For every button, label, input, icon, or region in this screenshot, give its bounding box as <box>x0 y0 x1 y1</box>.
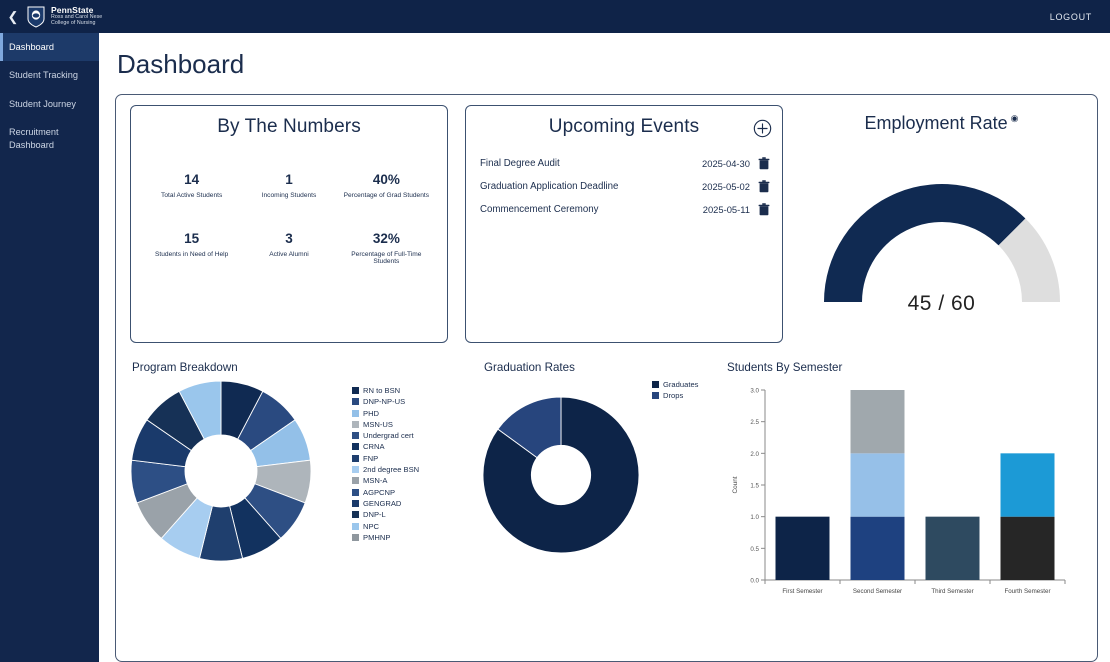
stat-label: Active Alumni <box>240 251 337 258</box>
legend-swatch <box>352 534 359 541</box>
legend-swatch <box>352 387 359 394</box>
legend-swatch <box>352 410 359 417</box>
legend-item[interactable]: 2nd degree BSN <box>352 465 419 474</box>
legend-swatch <box>352 511 359 518</box>
svg-text:Second Semester: Second Semester <box>853 588 902 595</box>
legend-label: CRNA <box>363 442 385 451</box>
legend-item[interactable]: RN to BSN <box>352 386 419 395</box>
event-row: Commencement Ceremony 2025-05-11 <box>478 198 770 221</box>
info-icon[interactable]: ◉ <box>1011 114 1019 123</box>
sidebar-item-label: Dashboard <box>9 42 54 52</box>
legend-label: DNP-L <box>363 510 386 519</box>
event-row: Graduation Application Deadline 2025-05-… <box>478 175 770 198</box>
svg-text:1.0: 1.0 <box>750 514 759 521</box>
stat-value: 1 <box>240 172 337 187</box>
sidebar-item-label: Student Tracking <box>9 70 78 80</box>
plus-circle-icon[interactable] <box>753 119 772 138</box>
program-breakdown-donut <box>130 380 312 562</box>
stat-students-in-need-of-help: 15 Students in Need of Help <box>143 231 240 265</box>
legend-item[interactable]: Graduates <box>652 380 698 389</box>
upcoming-events-header: Upcoming Events <box>478 116 770 138</box>
graduation-rates-legend: GraduatesDrops <box>652 380 698 400</box>
students-by-semester-body: 0.00.51.01.52.02.53.0CountFirst Semester… <box>725 380 1083 653</box>
legend-item[interactable]: Undergrad cert <box>352 431 419 440</box>
legend-swatch <box>652 381 659 388</box>
employment-rate-title-row: Employment Rate ◉ <box>800 113 1083 134</box>
stat-label: Incoming Students <box>240 192 337 199</box>
stacked-bar-chart: 0.00.51.01.52.02.53.0CountFirst Semester… <box>725 380 1073 618</box>
legend-label: PHD <box>363 409 379 418</box>
event-date: 2025-04-30 <box>702 158 750 169</box>
employment-rate-title: Employment Rate <box>865 113 1008 134</box>
sidebar: Dashboard Student Tracking Student Journ… <box>0 33 99 662</box>
legend-item[interactable]: MSN-A <box>352 476 419 485</box>
sidebar-item-recruitment-dashboard[interactable]: Recruitment Dashboard <box>0 118 99 159</box>
students-by-semester-title: Students By Semester <box>725 361 1083 374</box>
employment-rate-value: 45 / 60 <box>800 292 1083 316</box>
program-breakdown-chart: Program Breakdown RN to BSNDNP-NP-USPHDM… <box>130 361 482 653</box>
sidebar-item-student-journey[interactable]: Student Journey <box>0 90 99 118</box>
legend-item[interactable]: PMHNP <box>352 533 419 542</box>
legend-label: MSN-US <box>363 420 393 429</box>
charts-row: Program Breakdown RN to BSNDNP-NP-USPHDM… <box>130 361 1083 653</box>
stat-label: Total Active Students <box>143 192 240 199</box>
svg-text:1.5: 1.5 <box>750 483 759 490</box>
program-breakdown-body: RN to BSNDNP-NP-USPHDMSN-USUndergrad cer… <box>130 380 482 653</box>
graduation-rates-donut <box>482 396 640 554</box>
legend-swatch <box>352 443 359 450</box>
stat-value: 3 <box>240 231 337 246</box>
graduation-rates-title: Graduation Rates <box>482 361 725 374</box>
legend-item[interactable]: NPC <box>352 522 419 531</box>
widgets-row: By The Numbers 14 Total Active Students … <box>130 105 1083 343</box>
page-title: Dashboard <box>117 49 1098 80</box>
sidebar-item-label: Student Journey <box>9 99 76 109</box>
back-button[interactable]: ❮ <box>0 0 26 33</box>
legend-label: MSN-A <box>363 476 387 485</box>
trash-icon[interactable] <box>758 157 770 170</box>
legend-swatch <box>352 523 359 530</box>
event-name: Final Degree Audit <box>480 158 694 169</box>
students-by-semester-chart: Students By Semester 0.00.51.01.52.02.53… <box>725 361 1083 653</box>
legend-item[interactable]: CRNA <box>352 442 419 451</box>
brand-subline-2: College of Nursing <box>51 21 102 27</box>
svg-text:0.5: 0.5 <box>750 546 759 553</box>
stat-incoming-students: 1 Incoming Students <box>240 172 337 199</box>
legend-swatch <box>352 421 359 428</box>
svg-text:Third Semester: Third Semester <box>931 588 973 595</box>
legend-item[interactable]: Drops <box>652 391 698 400</box>
stat-value: 32% <box>338 231 435 246</box>
legend-label: AGPCNP <box>363 488 395 497</box>
legend-item[interactable]: DNP-L <box>352 510 419 519</box>
program-breakdown-legend: RN to BSNDNP-NP-USPHDMSN-USUndergrad cer… <box>352 386 419 542</box>
events-list: Final Degree Audit 2025-04-30 Graduation… <box>478 152 770 221</box>
event-row: Final Degree Audit 2025-04-30 <box>478 152 770 175</box>
legend-item[interactable]: FNP <box>352 454 419 463</box>
body-region: Dashboard Student Tracking Student Journ… <box>0 33 1110 662</box>
stats-grid: 14 Total Active Students 1 Incoming Stud… <box>143 172 435 265</box>
top-bar: ❮ PennState Ross and Carol Nese College … <box>0 0 1110 33</box>
employment-rate-gauge: 45 / 60 <box>800 140 1083 340</box>
legend-label: GENGRAD <box>363 499 401 508</box>
svg-text:3.0: 3.0 <box>750 388 759 395</box>
legend-label: PMHNP <box>363 533 390 542</box>
logout-button[interactable]: LOGOUT <box>1050 12 1092 22</box>
graduation-rates-chart: Graduation Rates GraduatesDrops <box>482 361 725 653</box>
dashboard-app: ❮ PennState Ross and Carol Nese College … <box>0 0 1110 662</box>
by-the-numbers-panel: By The Numbers 14 Total Active Students … <box>130 105 448 343</box>
svg-text:0.0: 0.0 <box>750 578 759 585</box>
legend-swatch <box>352 398 359 405</box>
legend-item[interactable]: DNP-NP-US <box>352 397 419 406</box>
legend-item[interactable]: MSN-US <box>352 420 419 429</box>
stat-value: 40% <box>338 172 435 187</box>
stat-label: Percentage of Grad Students <box>338 192 435 199</box>
event-name: Graduation Application Deadline <box>480 181 694 192</box>
event-name: Commencement Ceremony <box>480 204 695 215</box>
upcoming-events-title: Upcoming Events <box>478 116 770 138</box>
legend-swatch <box>352 489 359 496</box>
legend-swatch <box>352 477 359 484</box>
penn-state-shield-icon <box>26 6 46 28</box>
trash-icon[interactable] <box>758 180 770 193</box>
svg-text:First Semester: First Semester <box>782 588 822 595</box>
by-the-numbers-title: By The Numbers <box>143 116 435 138</box>
legend-item[interactable]: AGPCNP <box>352 488 419 497</box>
legend-label: Graduates <box>663 380 698 389</box>
stat-label: Students in Need of Help <box>143 251 240 258</box>
stat-percentage-full-time-students: 32% Percentage of Full-Time Students <box>338 231 435 265</box>
legend-swatch <box>352 455 359 462</box>
main-content: Dashboard By The Numbers 14 Total Active… <box>99 33 1110 662</box>
legend-item[interactable]: PHD <box>352 409 419 418</box>
event-date: 2025-05-02 <box>702 181 750 192</box>
event-date: 2025-05-11 <box>703 204 750 215</box>
legend-label: NPC <box>363 522 379 531</box>
legend-swatch <box>352 432 359 439</box>
legend-label: FNP <box>363 454 378 463</box>
legend-label: DNP-NP-US <box>363 397 405 406</box>
stat-label: Percentage of Full-Time Students <box>338 251 435 265</box>
legend-label: 2nd degree BSN <box>363 465 419 474</box>
dashboard-card: By The Numbers 14 Total Active Students … <box>115 94 1098 662</box>
legend-label: RN to BSN <box>363 386 400 395</box>
upcoming-events-panel: Upcoming Events Final Degree Audit 2025-… <box>465 105 783 343</box>
brand-logo: PennState Ross and Carol Nese College of… <box>26 6 102 28</box>
stat-value: 14 <box>143 172 240 187</box>
legend-swatch <box>352 500 359 507</box>
svg-text:Count: Count <box>732 476 739 493</box>
trash-icon[interactable] <box>758 203 770 216</box>
employment-rate-panel: Employment Rate ◉ 45 / 60 <box>800 105 1083 343</box>
legend-swatch <box>352 466 359 473</box>
stat-total-active-students: 14 Total Active Students <box>143 172 240 199</box>
stat-active-alumni: 3 Active Alumni <box>240 231 337 265</box>
legend-swatch <box>652 392 659 399</box>
sidebar-item-student-tracking[interactable]: Student Tracking <box>0 61 99 89</box>
graduation-rates-body: GraduatesDrops <box>482 380 725 653</box>
legend-label: Undergrad cert <box>363 431 414 440</box>
legend-item[interactable]: GENGRAD <box>352 499 419 508</box>
sidebar-item-dashboard[interactable]: Dashboard <box>0 33 99 61</box>
stat-value: 15 <box>143 231 240 246</box>
program-breakdown-title: Program Breakdown <box>130 361 482 374</box>
svg-text:2.5: 2.5 <box>750 419 759 426</box>
svg-text:Fourth Semester: Fourth Semester <box>1004 588 1050 595</box>
sidebar-item-label: Recruitment Dashboard <box>9 127 59 149</box>
legend-label: Drops <box>663 391 683 400</box>
svg-text:2.0: 2.0 <box>750 451 759 458</box>
stat-percentage-grad-students: 40% Percentage of Grad Students <box>338 172 435 199</box>
